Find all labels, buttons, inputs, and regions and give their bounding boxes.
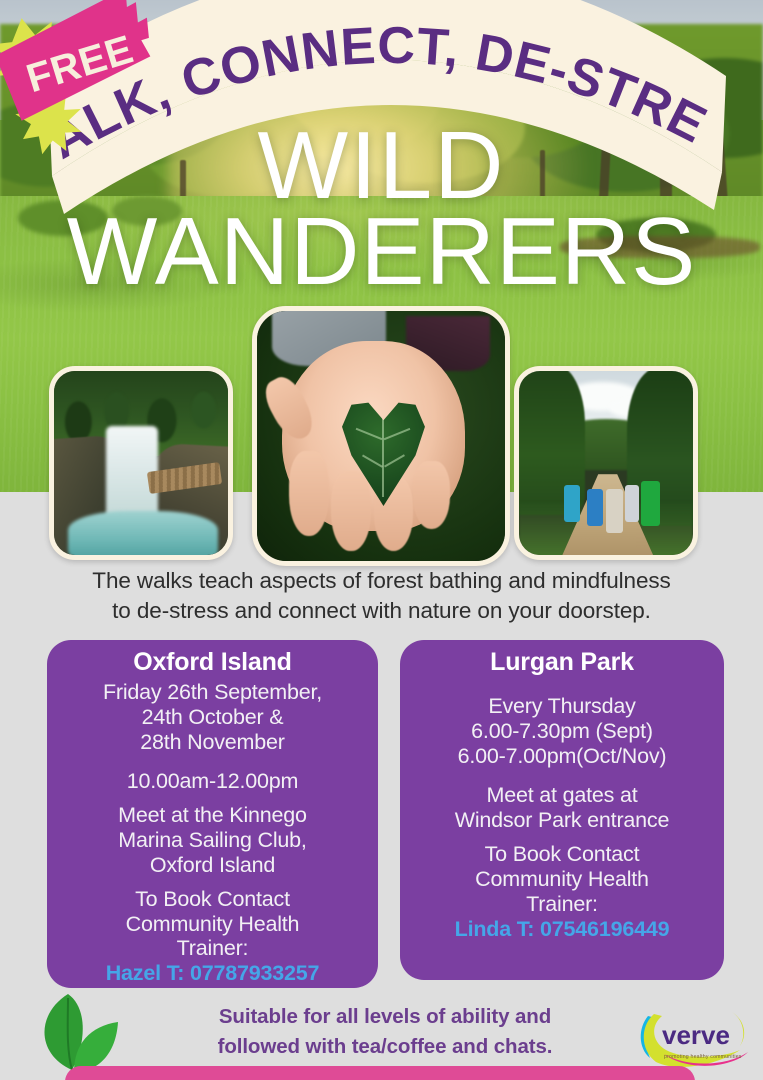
logo-tagline: promoting healthy communities: [664, 1054, 742, 1060]
leaf-vein: [382, 409, 384, 497]
leaf-vein: [384, 454, 405, 467]
card-oxford-island-title: Oxford Island: [57, 648, 368, 677]
free-badge: FREE: [0, 0, 186, 134]
footer-note-line-2: followed with tea/coffee and chats.: [150, 1032, 620, 1062]
leaf-icon: [28, 992, 120, 1074]
spacer: [57, 878, 368, 887]
leaf-vein: [384, 428, 411, 440]
waterfall-photo: [49, 366, 233, 560]
card-lurgan-park-booking-1: To Book Contact: [410, 842, 714, 867]
logo-wordmark: verve: [662, 1020, 730, 1050]
card-lurgan-park-date-2: 6.00-7.30pm (Sept): [410, 719, 714, 744]
group-walkers-photo: [514, 366, 698, 560]
card-oxford-island-date-2: 24th October &: [57, 705, 368, 730]
spacer: [410, 680, 714, 694]
finger: [413, 461, 450, 529]
leaf-vein: [362, 454, 383, 467]
leaf-vein: [356, 428, 383, 440]
poster-root: WILD WANDERERS WALK, CONNECT, DE-STRESS …: [0, 0, 763, 1080]
card-lurgan-park-title: Lurgan Park: [410, 648, 714, 677]
card-oxford-island-time: 10.00am-12.00pm: [57, 769, 368, 794]
footer-note-line-1: Suitable for all levels of ability and: [150, 1002, 620, 1032]
card-lurgan-park-meet-1: Meet at gates at: [410, 783, 714, 808]
leaf-in-hand-photo: [252, 306, 510, 566]
finger: [289, 451, 329, 536]
card-oxford-island-meet-1: Meet at the Kinnego: [57, 803, 368, 828]
card-oxford-island-date-1: Friday 26th September,: [57, 680, 368, 705]
logo-lime-accent: [732, 1012, 744, 1046]
card-lurgan-park-contact[interactable]: Linda T: 07546196449: [410, 917, 714, 942]
card-oxford-island-contact[interactable]: Hazel T: 07787933257: [57, 961, 368, 986]
walker: [625, 485, 639, 522]
spacer: [410, 769, 714, 783]
card-lurgan-park-booking-3: Trainer:: [410, 892, 714, 917]
card-oxford-island-date-3: 28th November: [57, 730, 368, 755]
finger: [331, 471, 371, 551]
spacer: [57, 755, 368, 769]
card-lurgan-park-booking-2: Community Health: [410, 867, 714, 892]
intro-paragraph: The walks teach aspects of forest bathin…: [0, 566, 763, 625]
card-lurgan-park-date-1: Every Thursday: [410, 694, 714, 719]
walker: [564, 485, 580, 522]
walker: [587, 489, 603, 526]
card-oxford-island[interactable]: Oxford Island Friday 26th September, 24t…: [47, 640, 378, 988]
walker: [606, 489, 623, 533]
card-oxford-island-booking-3: Trainer:: [57, 936, 368, 961]
poster-title-line2: WANDERERS: [0, 206, 763, 298]
card-oxford-island-meet-2: Marina Sailing Club,: [57, 828, 368, 853]
intro-line-2: to de-stress and connect with nature on …: [30, 596, 733, 626]
verve-logo: verve promoting healthy communities: [636, 1006, 754, 1068]
card-oxford-island-meet-3: Oxford Island: [57, 853, 368, 878]
card-lurgan-park-meet-2: Windsor Park entrance: [410, 808, 714, 833]
session-cards: Oxford Island Friday 26th September, 24t…: [0, 640, 763, 990]
intro-line-1: The walks teach aspects of forest bathin…: [30, 566, 733, 596]
waterfall-pool: [68, 511, 218, 559]
walker: [641, 481, 660, 525]
card-lurgan-park-date-3: 6.00-7.00pm(Oct/Nov): [410, 744, 714, 769]
card-oxford-island-booking-1: To Book Contact: [57, 887, 368, 912]
spacer: [410, 833, 714, 842]
footer-note: Suitable for all levels of ability and f…: [150, 1002, 620, 1063]
bottom-pink-bar: [65, 1066, 695, 1080]
card-lurgan-park[interactable]: Lurgan Park Every Thursday 6.00-7.30pm (…: [400, 640, 724, 980]
spacer: [57, 794, 368, 803]
card-oxford-island-booking-2: Community Health: [57, 912, 368, 937]
